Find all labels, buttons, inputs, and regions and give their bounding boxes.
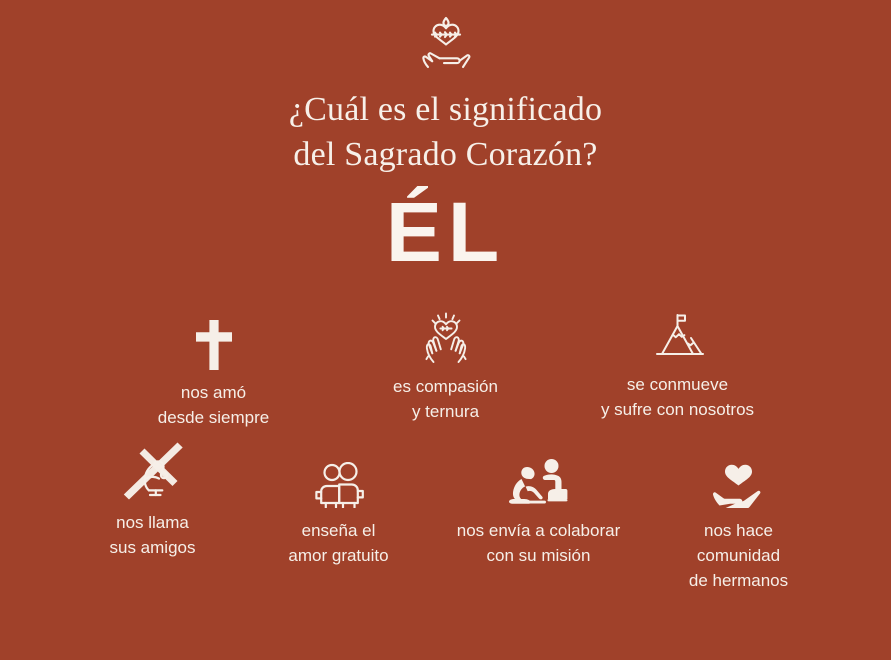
attribute-label: se conmueve y sufre con nosotros [601, 372, 754, 422]
person-carrying-cross-icon [114, 448, 192, 500]
page-title-line-2: del Sagrado Corazón? [0, 133, 891, 178]
poster-canvas: ¿Cuál es el significado del Sagrado Cora… [0, 0, 891, 660]
attribute-item: enseña el amor gratuito [246, 448, 432, 568]
page-title-line-1: ¿Cuál es el significado [0, 88, 891, 133]
hands-holding-radiant-heart-icon [413, 312, 479, 364]
attribute-label: enseña el amor gratuito [288, 518, 388, 568]
attribute-label: nos hace comunidad de hermanos [689, 518, 788, 593]
attribute-item: nos hace comunidad de hermanos [646, 448, 832, 593]
attribute-item: nos envía a colaborar con su misión [432, 448, 646, 568]
attributes-row-one: nos amó desde siempre [0, 306, 891, 430]
two-people-icon [310, 456, 368, 508]
attribute-label: nos envía a colaborar con su misión [457, 518, 621, 568]
attribute-item: es compasión y ternura [330, 306, 562, 424]
attribute-item: nos llama sus amigos [60, 448, 246, 560]
sacred-heart-in-hand-icon [0, 14, 891, 72]
attribute-item: se conmueve y sufre con nosotros [562, 306, 794, 422]
answer-word: ÉL [0, 190, 891, 274]
cross-icon [193, 318, 235, 370]
header: ¿Cuál es el significado del Sagrado Cora… [0, 0, 891, 201]
washing-feet-icon [501, 456, 577, 508]
mountain-with-flag-icon [643, 310, 713, 362]
hand-holding-heart-icon [710, 456, 768, 508]
attribute-label: nos amó desde siempre [158, 380, 270, 430]
attribute-label: es compasión y ternura [393, 374, 498, 424]
attribute-item: nos amó desde siempre [98, 306, 330, 430]
attribute-label: nos llama sus amigos [110, 510, 196, 560]
attributes-row-two: nos llama sus amigos [0, 448, 891, 593]
page-title: ¿Cuál es el significado del Sagrado Cora… [0, 88, 891, 178]
